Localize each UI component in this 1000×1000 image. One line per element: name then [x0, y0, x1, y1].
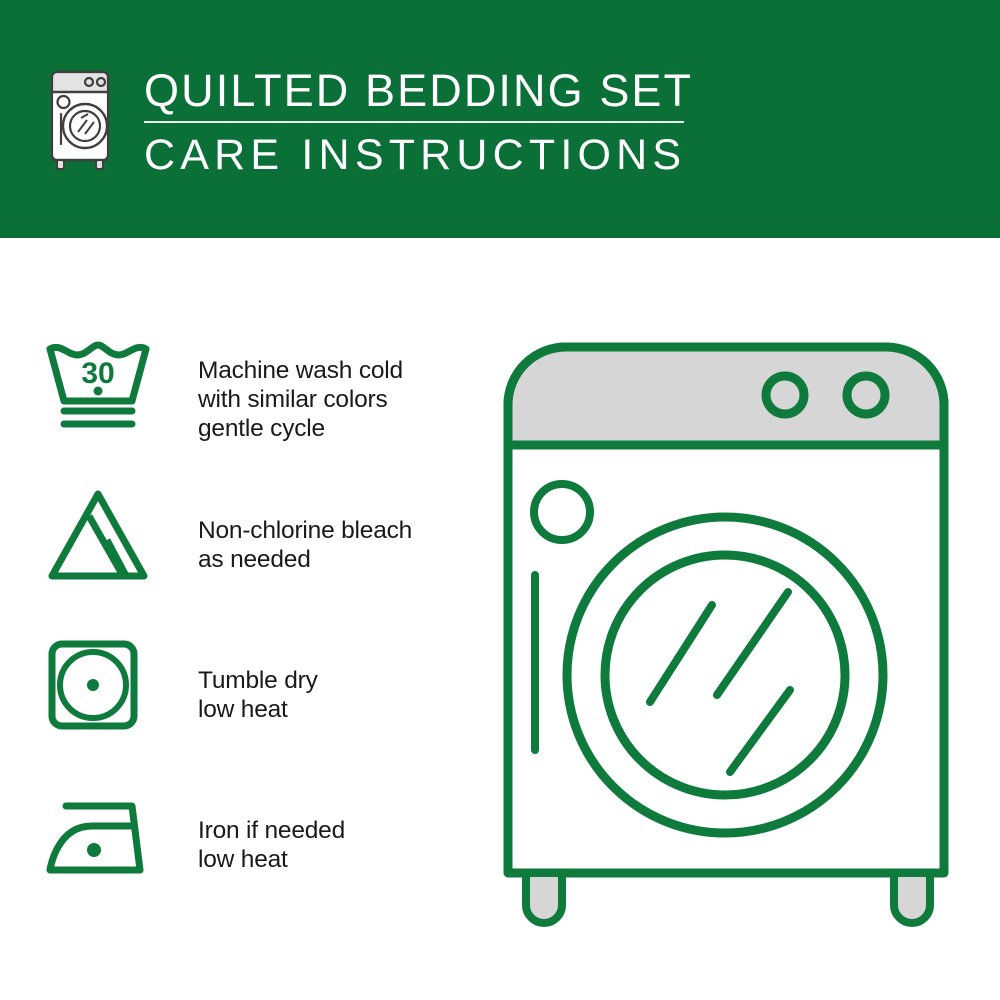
- page-title: QUILTED BEDDING SET: [144, 66, 693, 116]
- care-text-line: Non-chlorine bleach: [198, 516, 412, 545]
- care-symbol-slot: [44, 480, 162, 590]
- tumble-dry-low-heat-icon: [44, 636, 142, 734]
- header-banner: QUILTED BEDDING SET CARE INSTRUCTIONS: [0, 0, 1000, 238]
- control-panel: [508, 347, 944, 445]
- wash-temperature-label: 30: [81, 357, 114, 390]
- care-text-line: low heat: [198, 845, 345, 874]
- list-item: Tumble dry low heat: [44, 630, 474, 780]
- care-text-line: Tumble dry: [198, 666, 318, 695]
- dryer-heat-dot: [87, 679, 99, 691]
- wash-dot: [94, 387, 103, 396]
- care-text-line: Iron if needed: [198, 816, 345, 845]
- non-chlorine-bleach-triangle-icon: [44, 486, 152, 584]
- list-item: Iron if needed low heat: [44, 780, 474, 930]
- washing-machine-icon: [44, 68, 116, 172]
- care-symbol-slot: [44, 780, 162, 890]
- wash-tub-30-gentle-icon: 30: [44, 339, 152, 431]
- iron-low-heat-icon: [44, 792, 152, 878]
- front-load-washing-machine-illustration: [490, 330, 980, 940]
- list-item: 30 Machine wash cold with similar colors…: [44, 330, 474, 480]
- iron-heat-dot: [87, 843, 101, 857]
- header-content: QUILTED BEDDING SET CARE INSTRUCTIONS: [44, 66, 693, 178]
- care-instructions-infographic: QUILTED BEDDING SET CARE INSTRUCTIONS 30…: [0, 0, 1000, 1000]
- care-text-line: gentle cycle: [198, 414, 403, 443]
- care-text-line: with similar colors: [198, 385, 403, 414]
- care-instruction-text: Tumble dry low heat: [198, 630, 318, 724]
- care-symbol-slot: [44, 630, 162, 740]
- machine-leg-left: [526, 873, 562, 923]
- care-text-line: as needed: [198, 545, 412, 574]
- header-titles: QUILTED BEDDING SET CARE INSTRUCTIONS: [144, 66, 693, 178]
- care-text-line: Machine wash cold: [198, 356, 403, 385]
- care-instruction-text: Iron if needed low heat: [198, 780, 345, 874]
- care-instruction-text: Non-chlorine bleach as needed: [198, 480, 412, 574]
- title-divider: [144, 121, 684, 123]
- list-item: Non-chlorine bleach as needed: [44, 480, 474, 630]
- care-instruction-text: Machine wash cold with similar colors ge…: [198, 330, 403, 443]
- machine-leg-right: [894, 873, 930, 923]
- care-text-line: low heat: [198, 695, 318, 724]
- care-instruction-list: 30 Machine wash cold with similar colors…: [44, 330, 474, 930]
- care-symbol-slot: 30: [44, 330, 162, 440]
- page-subtitle: CARE INSTRUCTIONS: [144, 132, 693, 178]
